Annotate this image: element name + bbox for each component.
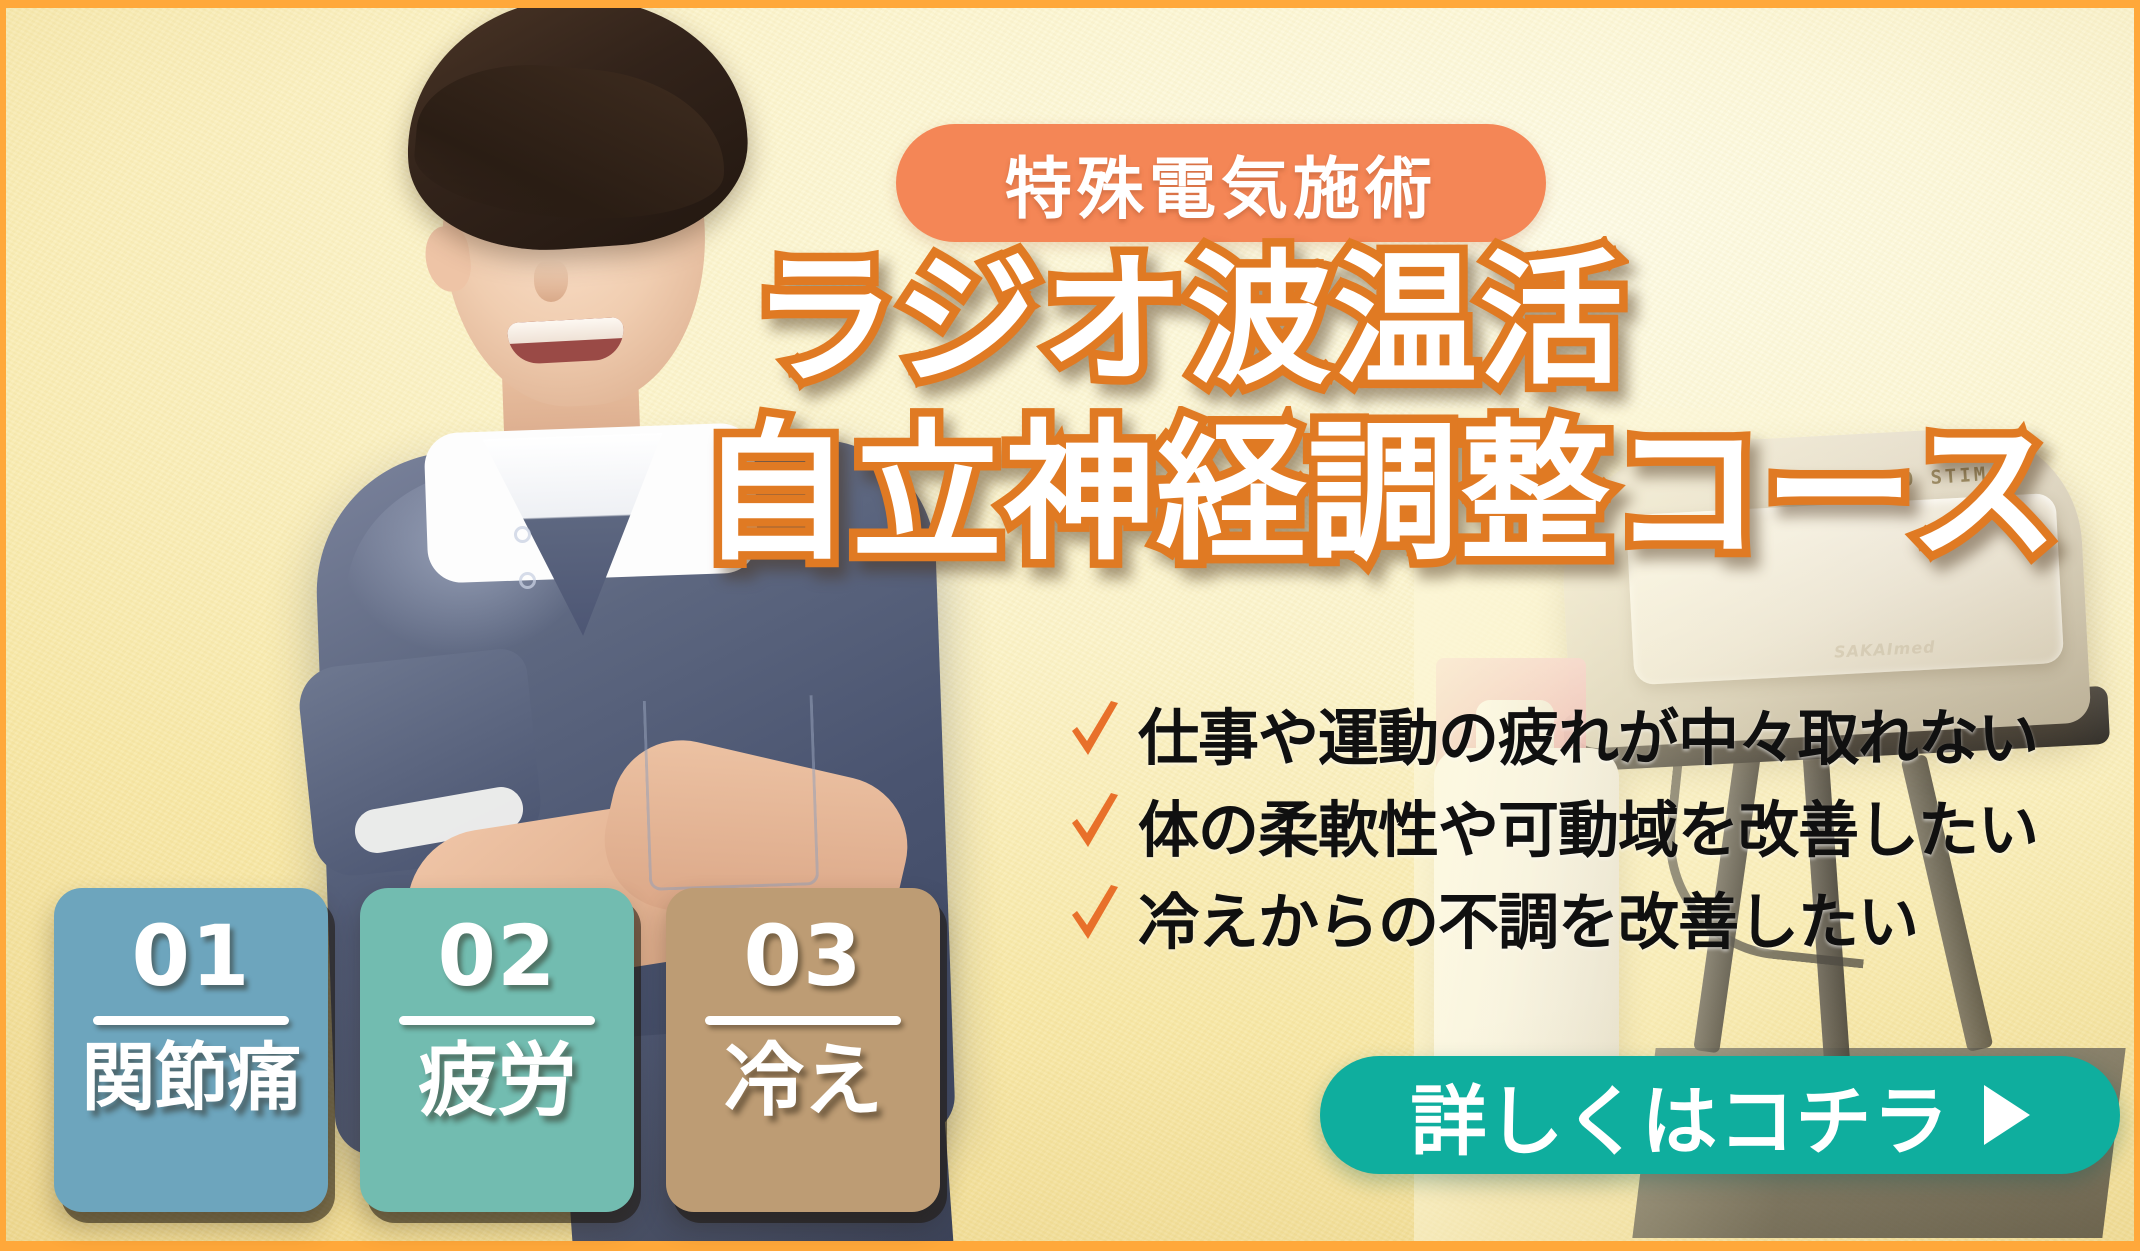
check-icon — [1068, 885, 1122, 947]
card-number: 01 — [132, 914, 251, 998]
card-number: 02 — [438, 914, 557, 998]
card-divider — [93, 1016, 289, 1025]
list-item: 仕事や運動の疲れが中々取れない — [1068, 686, 2128, 778]
category-badge: 特殊電気施術 — [896, 124, 1546, 242]
list-item: 体の柔軟性や可動域を改善したい — [1068, 778, 2128, 870]
headline-line-1: ラジオ波温活 — [700, 236, 2130, 406]
card-label: 疲労 — [418, 1041, 576, 1121]
card-divider — [399, 1016, 595, 1025]
list-item: 冷えからの不調を改善したい — [1068, 870, 2128, 962]
card-number: 03 — [744, 914, 863, 998]
symptom-card-01[interactable]: 01 関節痛 — [54, 888, 328, 1212]
symptom-card-list: 01 関節痛 02 疲労 03 冷え — [54, 888, 940, 1212]
benefit-text: 体の柔軟性や可動域を改善したい — [1138, 780, 2038, 869]
cta-button-label: 詳しくはコチラ — [1411, 1060, 1950, 1170]
check-icon — [1068, 793, 1122, 855]
card-divider — [705, 1016, 901, 1025]
benefit-text: 仕事や運動の疲れが中々取れない — [1138, 688, 2038, 777]
category-badge-label: 特殊電気施術 — [1005, 135, 1437, 232]
symptom-card-02[interactable]: 02 疲労 — [360, 888, 634, 1212]
headline-line-2: 自立神経調整コース — [700, 406, 2130, 583]
card-label: 冷え — [724, 1041, 882, 1121]
page-title: ラジオ波温活 自立神経調整コース — [700, 236, 2130, 583]
promo-banner: RADIO STIM SAKAImed — [0, 0, 2140, 1251]
symptom-card-03[interactable]: 03 冷え — [666, 888, 940, 1212]
play-triangle-icon — [1984, 1085, 2030, 1145]
cta-button[interactable]: 詳しくはコチラ — [1320, 1056, 2120, 1174]
benefit-list: 仕事や運動の疲れが中々取れない 体の柔軟性や可動域を改善したい 冷えからの不調を… — [1068, 686, 2128, 962]
check-icon — [1068, 701, 1122, 763]
card-label: 関節痛 — [82, 1041, 301, 1115]
benefit-text: 冷えからの不調を改善したい — [1138, 872, 1918, 961]
